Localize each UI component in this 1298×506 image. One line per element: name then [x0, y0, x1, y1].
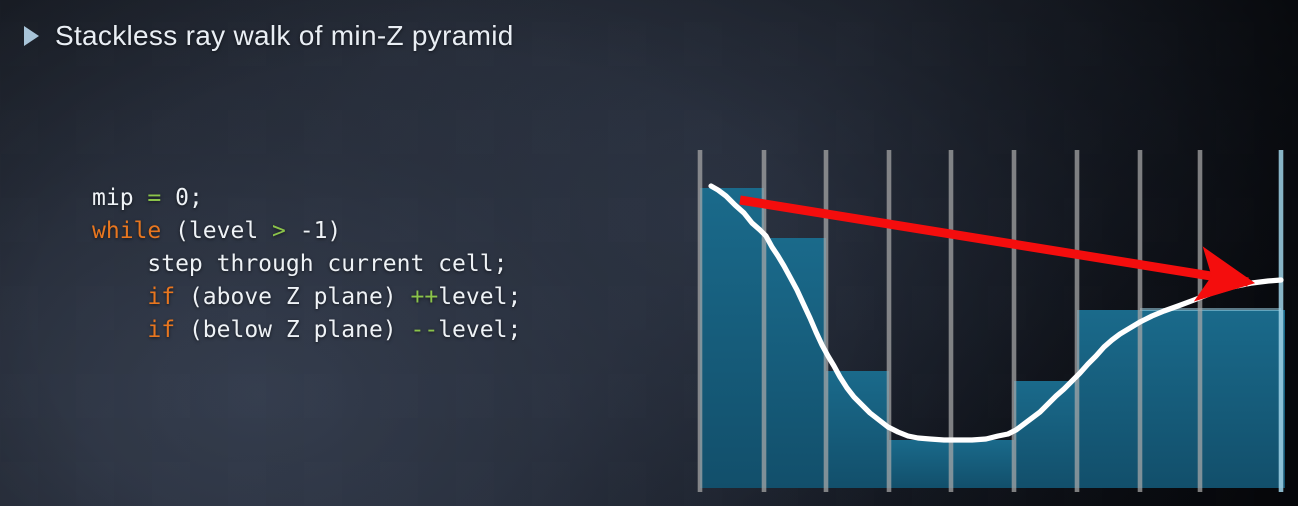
- code-token-keyword: while: [92, 218, 161, 244]
- code-line: mip = 0;: [92, 182, 521, 215]
- code-token-plain: -1): [286, 218, 341, 244]
- code-line: if (below Z plane) --level;: [92, 314, 521, 347]
- bullet-row: Stackless ray walk of min-Z pyramid: [24, 20, 514, 52]
- bars-group: [700, 188, 1285, 488]
- code-token-plain: level;: [438, 317, 521, 343]
- code-token-plain: [92, 317, 147, 343]
- min-z-bar: [1014, 381, 1077, 488]
- code-line: while (level > -1): [92, 215, 521, 248]
- code-token-plain: [92, 284, 147, 310]
- bar-top-highlight: [1210, 308, 1281, 311]
- code-token-plain: (below Z plane): [175, 317, 410, 343]
- diagram-svg: [690, 140, 1290, 500]
- code-token-keyword: if: [147, 284, 175, 310]
- min-z-bar: [1210, 310, 1285, 488]
- min-z-bar: [951, 440, 1014, 488]
- code-block: mip = 0;while (level > -1) step through …: [92, 182, 521, 347]
- code-token-plain: mip: [92, 185, 147, 211]
- code-token-operator: >: [272, 218, 286, 244]
- min-z-pyramid-diagram: [690, 140, 1290, 500]
- slide: Stackless ray walk of min-Z pyramid mip …: [0, 0, 1298, 506]
- min-z-bar: [826, 371, 889, 488]
- code-line: step through current cell;: [92, 248, 521, 281]
- triangle-right-icon: [24, 26, 39, 46]
- code-token-plain: (level: [161, 218, 272, 244]
- min-z-bar: [764, 238, 826, 488]
- code-line: if (above Z plane) ++level;: [92, 281, 521, 314]
- code-token-operator: =: [147, 185, 161, 211]
- code-token-plain: 0;: [161, 185, 203, 211]
- code-token-plain: step through current cell;: [92, 251, 507, 277]
- code-token-operator: --: [411, 317, 439, 343]
- code-token-operator: ++: [411, 284, 439, 310]
- bullet-text: Stackless ray walk of min-Z pyramid: [55, 20, 514, 52]
- code-token-plain: level;: [438, 284, 521, 310]
- code-token-plain: (above Z plane): [175, 284, 410, 310]
- code-token-keyword: if: [147, 317, 175, 343]
- min-z-bar: [700, 188, 764, 488]
- min-z-bar: [1077, 310, 1140, 488]
- min-z-bar: [889, 440, 951, 488]
